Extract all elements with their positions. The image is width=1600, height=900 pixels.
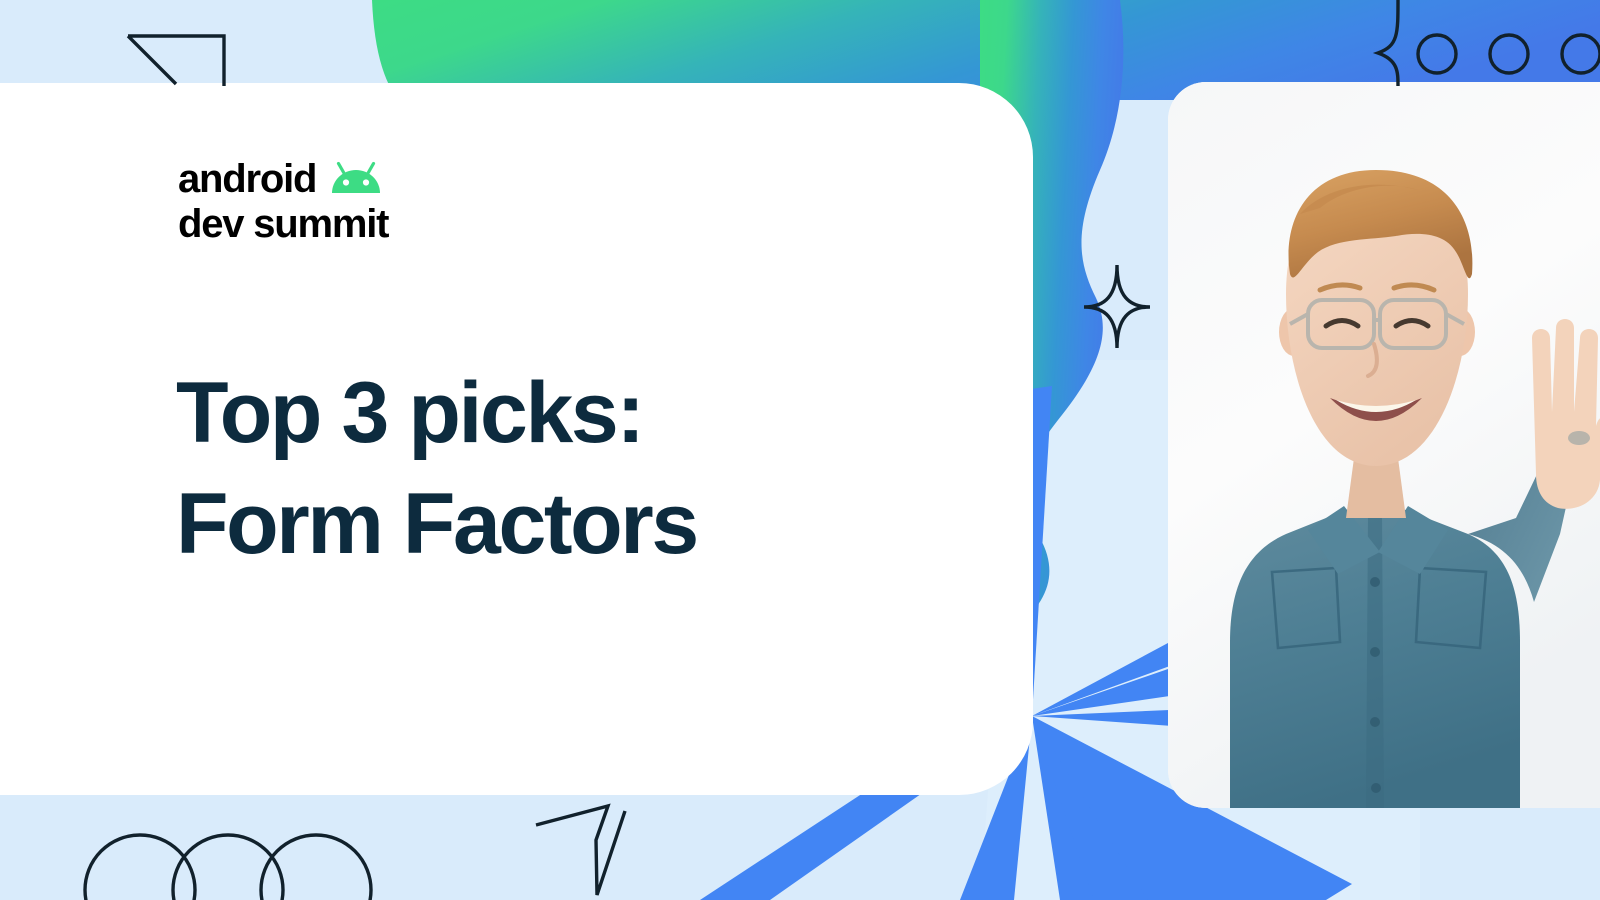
logo-row-primary: android [178, 158, 384, 201]
slide-canvas: android dev summit Top 3 picks: Form Fac… [0, 0, 1600, 900]
page-title-line-1: Top 3 picks: [176, 358, 697, 469]
page-title-line-2: Form Factors [176, 469, 697, 580]
logo-line-1: android [178, 158, 316, 201]
speaker-photo [1168, 82, 1600, 808]
logo-line-2: dev summit [178, 203, 388, 246]
three-fingers-hand-icon [1532, 319, 1600, 509]
speaker-illustration [1168, 82, 1600, 808]
android-dev-summit-logo: android dev summit [178, 158, 388, 246]
page-title: Top 3 picks: Form Factors [176, 358, 697, 580]
android-bugdroid-head-icon [328, 160, 384, 194]
ring-icon [1568, 431, 1590, 445]
